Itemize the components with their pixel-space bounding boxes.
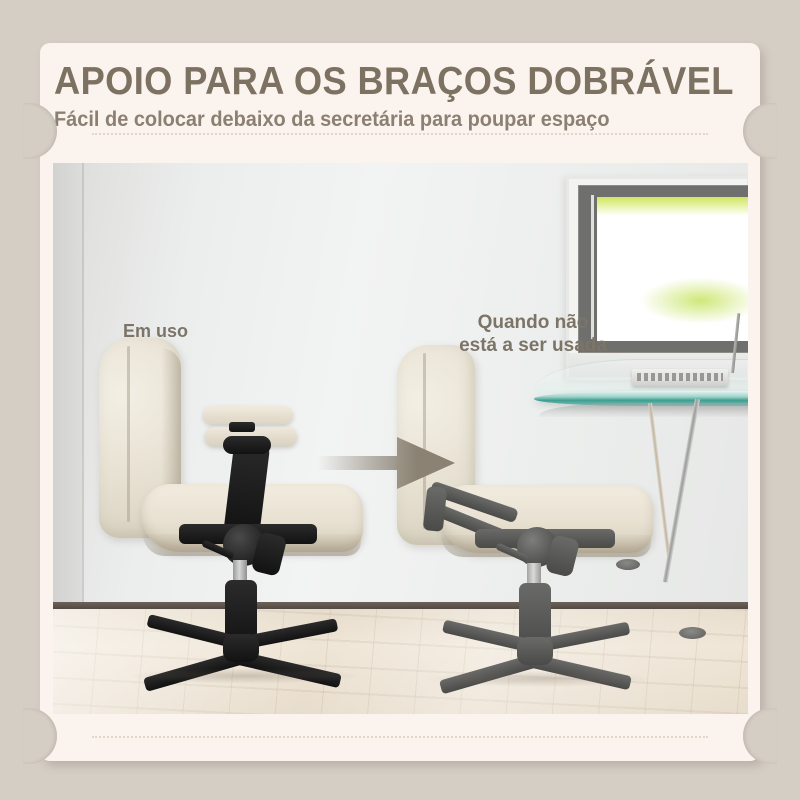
desk-foot-front bbox=[679, 627, 706, 639]
page-subtitle: Fácil de colocar debaixo da secretária p… bbox=[54, 107, 719, 133]
notch-right-top bbox=[743, 103, 777, 159]
wall-side-panel bbox=[53, 163, 82, 607]
chair-armrests-folded bbox=[383, 345, 673, 714]
notch-right-bottom bbox=[743, 708, 777, 764]
armrest-bracket bbox=[229, 422, 255, 432]
base-center-hub bbox=[517, 637, 553, 665]
perforation-line-bottom bbox=[92, 736, 708, 738]
poster-canvas: APOIO PARA OS BRAÇOS DOBRÁVEL Fácil de c… bbox=[0, 0, 800, 800]
transition-arrow-icon bbox=[318, 431, 455, 495]
label-not-in-use-line2: está a ser usada bbox=[433, 334, 633, 357]
label-not-in-use-line1: Quando não bbox=[433, 311, 633, 334]
chair-armrests-up bbox=[83, 338, 363, 708]
label-in-use: Em uso bbox=[123, 320, 188, 343]
product-photo: Em uso Quando não está a ser usada bbox=[53, 163, 748, 714]
armrest-post-collar bbox=[223, 436, 271, 454]
perforation-line-top bbox=[92, 133, 708, 135]
base-shadow bbox=[129, 668, 361, 684]
notch-left-bottom bbox=[23, 708, 57, 764]
page-title: APOIO PARA OS BRAÇOS DOBRÁVEL bbox=[54, 59, 705, 105]
label-not-in-use: Quando não está a ser usada bbox=[433, 311, 633, 357]
notch-left-top bbox=[23, 103, 57, 159]
base-shadow bbox=[425, 671, 653, 687]
backrest-seam bbox=[127, 346, 130, 522]
ticket-card: APOIO PARA OS BRAÇOS DOBRÁVEL Fácil de c… bbox=[40, 43, 760, 761]
base-center-hub bbox=[223, 634, 259, 662]
